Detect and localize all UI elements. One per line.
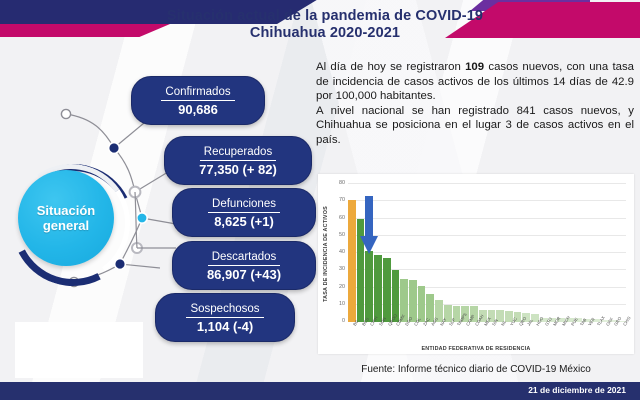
stat-label-confirmados: Confirmados [161, 86, 234, 101]
hub-label-line2: general [43, 218, 89, 233]
stat-value-confirmados: 90,686 [145, 102, 251, 118]
page-title-line1: Situación actual de la pandemia de COVID… [150, 8, 500, 25]
chart-y-axis-title: TASA DE INCIDENCIA DE ACTIVOS [320, 188, 332, 320]
stat-pill-descartados[interactable]: Descartados 86,907 (+43) [172, 241, 316, 290]
summary-line2: A nivel nacional se han registrado 841 c… [316, 105, 634, 146]
chart-x-tick: PUE [566, 324, 574, 346]
chart-x-tick: COAH [470, 324, 478, 346]
summary-new-cases: 109 [465, 61, 484, 73]
chart-x-tick: QROO [383, 324, 391, 346]
chart-x-tick: QRO [514, 324, 522, 346]
stat-label-defunciones: Defunciones [208, 198, 280, 213]
stat-label-descartados: Descartados [208, 251, 281, 266]
chart-x-tick: NL [496, 324, 504, 346]
chart-bar [365, 251, 373, 322]
page-title: Situación actual de la pandemia de COVID… [150, 8, 500, 42]
chart-x-tick: BC [348, 324, 356, 346]
chart-x-tick-labels: BCBCSCHIHSONQROOCDMXDGOCOLZACAGSNAYSLPTA… [348, 324, 626, 346]
slide-canvas: Situación actual de la pandemia de COVID… [0, 0, 640, 400]
diagram-node-end-top [61, 109, 70, 118]
stat-value-sospechosos: 1,104 (-4) [169, 319, 281, 335]
chart-x-tick: SLP [444, 324, 452, 346]
source-note: Fuente: Informe técnico diario de COVID-… [318, 364, 634, 375]
chart-y-tick: 80 [339, 180, 345, 186]
stat-pill-confirmados[interactable]: Confirmados 90,686 [131, 76, 265, 125]
chart-x-tick: JAL [522, 324, 530, 346]
chart-x-tick: COL [409, 324, 417, 346]
chart-y-tick: 60 [339, 215, 345, 221]
chart-x-tick: OAX [601, 324, 609, 346]
chart-x-tick: SON [374, 324, 382, 346]
chart-bar [374, 255, 382, 322]
chart-x-tick: SIN [488, 324, 496, 346]
chart-y-tick: 40 [339, 249, 345, 255]
diagram-node-defunciones [137, 213, 147, 223]
chart-x-tick: TAMPS [453, 324, 461, 346]
chart-y-tick: 30 [339, 266, 345, 272]
chart-x-tick: MEX [479, 324, 487, 346]
stat-value-defunciones: 8,625 (+1) [186, 214, 302, 230]
stat-label-sospechosos: Sospechosos [186, 303, 263, 318]
chart-x-tick: CDMX [392, 324, 400, 346]
chart-y-tick: 70 [339, 197, 345, 203]
chart-bar [348, 200, 356, 322]
chart-x-axis-title: ENTIDAD FEDERATIVA DE RESIDENCIA [318, 346, 634, 352]
chart-x-tick: CHIH [365, 324, 373, 346]
chart-y-tick: 50 [339, 232, 345, 238]
chart-x-tick: AGS [426, 324, 434, 346]
stat-value-descartados: 86,907 (+43) [186, 267, 302, 283]
chart-bars [348, 184, 626, 322]
chart-y-tick: 20 [339, 284, 345, 290]
footer-bar: 21 de diciembre de 2021 [0, 382, 640, 400]
chart-y-tick: 10 [339, 301, 345, 307]
stat-pill-recuperados[interactable]: Recuperados 77,350 (+ 82) [164, 136, 312, 185]
footer-date: 21 de diciembre de 2021 [528, 385, 626, 395]
header-band-magenta-left [0, 24, 170, 37]
chart-y-axis-title-text: TASA DE INCIDENCIA DE ACTIVOS [323, 206, 329, 302]
summary-line1-pre: Al día de hoy se registraron [316, 61, 465, 73]
chart-plot-area: 01020304050607080 [348, 184, 626, 322]
chart-x-tick: DGO [400, 324, 408, 346]
hub-label-line1: Situación [37, 203, 96, 218]
chart-x-tick: VER [583, 324, 591, 346]
stat-pill-defunciones[interactable]: Defunciones 8,625 (+1) [172, 188, 316, 237]
hub-situacion-general: Situación general [18, 170, 114, 266]
stat-pill-sospechosos[interactable]: Sospechosos 1,104 (-4) [155, 293, 295, 342]
chart-x-tick: CAMP [461, 324, 469, 346]
chart-x-tick: MOR [549, 324, 557, 346]
summary-text: Al día de hoy se registraron 109 casos n… [316, 60, 634, 148]
chart-x-tick: GRO [610, 324, 618, 346]
white-patch [15, 322, 143, 378]
chart-x-tick: CHIS [618, 324, 626, 346]
chart-x-tick: TAB [575, 324, 583, 346]
chart-x-tick: BCS [357, 324, 365, 346]
chart-x-tick: MICH [557, 324, 565, 346]
chart-y-tick: 0 [342, 318, 345, 324]
chart-x-tick: YUC [505, 324, 513, 346]
chart-x-tick: HGO [531, 324, 539, 346]
situation-diagram: Situación general Confirmados 90,686 Rec… [0, 52, 316, 352]
stat-label-recuperados: Recuperados [200, 146, 276, 161]
highlight-arrow-icon [360, 196, 378, 256]
chart-x-tick: ZAC [418, 324, 426, 346]
chart-x-tick: GTO [540, 324, 548, 346]
chart-x-tick: TLAX [592, 324, 600, 346]
chart-x-tick: NAY [435, 324, 443, 346]
stat-value-recuperados: 77,350 (+ 82) [178, 162, 298, 178]
diagram-node-confirmados [109, 143, 120, 154]
page-title-line2: Chihuahua 2020-2021 [150, 25, 500, 42]
incidence-chart: TASA DE INCIDENCIA DE ACTIVOS 0102030405… [318, 174, 634, 354]
chart-bar [383, 258, 391, 322]
